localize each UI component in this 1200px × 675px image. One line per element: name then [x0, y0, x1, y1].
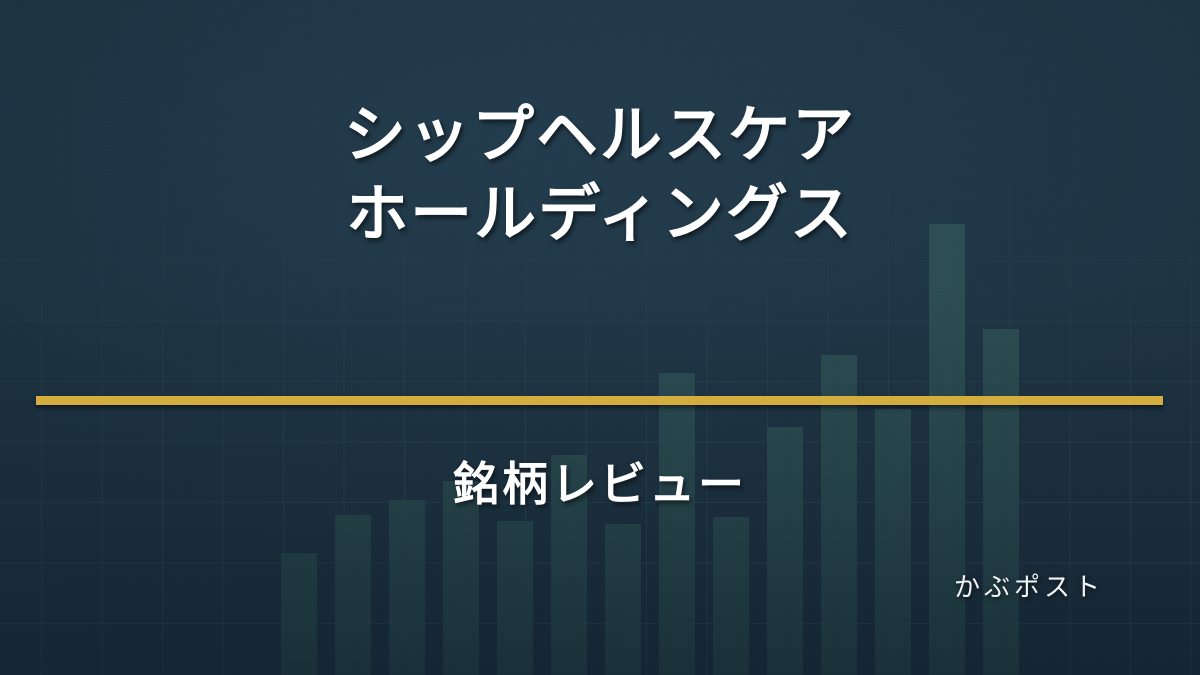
slide-canvas: シップヘルスケア ホールディングス 銘柄レビュー かぶポスト — [0, 0, 1200, 675]
brand-watermark: かぶポスト — [954, 567, 1104, 604]
page-title: シップヘルスケア ホールディングス — [0, 96, 1200, 255]
slide-content: シップヘルスケア ホールディングス 銘柄レビュー かぶポスト — [0, 0, 1200, 675]
gold-divider-rule — [36, 396, 1163, 405]
page-subtitle: 銘柄レビュー — [0, 448, 1200, 514]
